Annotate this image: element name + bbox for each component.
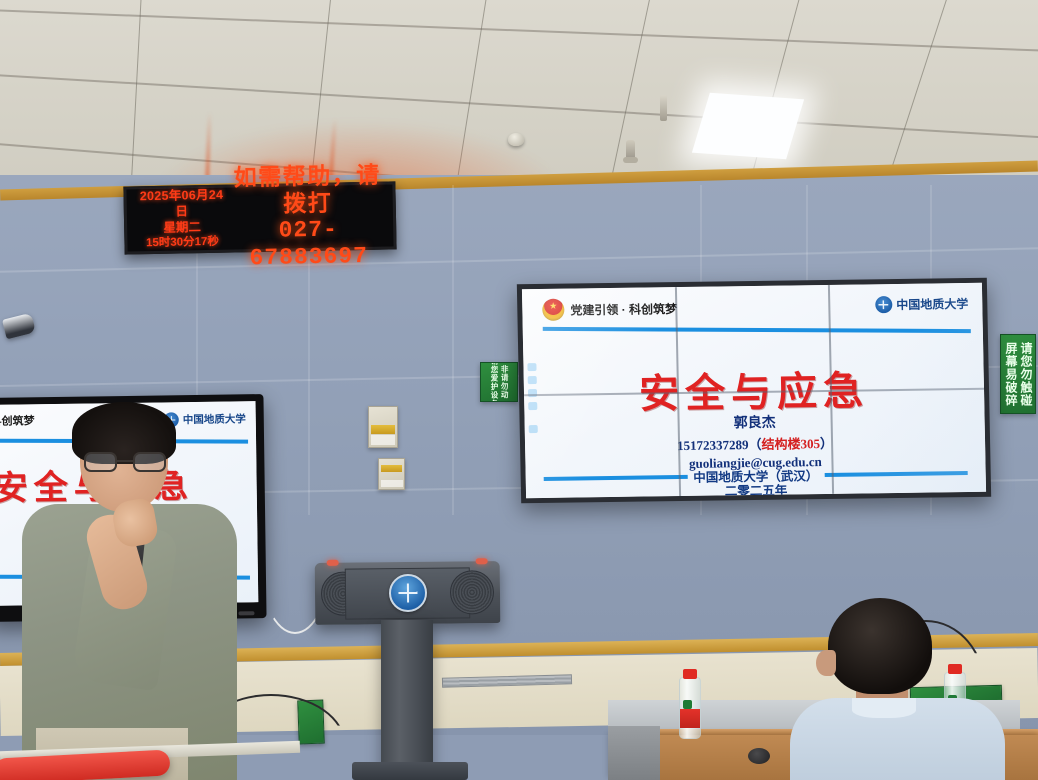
- slide-phone: 15172337289: [677, 437, 749, 453]
- led-help-message: 如需帮助，请拨打: [229, 161, 386, 218]
- desk-small-object: [748, 748, 770, 764]
- party-emblem-icon: .party-emblem:before{font-size:9px;}: [542, 299, 564, 321]
- sign-do-not-touch-screen: 请您勿触碰 屏幕易破碎: [1000, 334, 1036, 414]
- desk-side-panel: [608, 726, 660, 780]
- cug-mark-icon: [875, 296, 892, 313]
- glasses-lens-left: [84, 452, 117, 472]
- led-time: 15时30分17秒: [134, 235, 230, 251]
- slide-top-rule: [543, 327, 971, 333]
- led-weekday: 星期二: [134, 219, 230, 236]
- sign-right-line2: 屏幕易破碎: [1004, 342, 1017, 407]
- slide-room: 结构楼305: [761, 436, 820, 452]
- led-datetime-block: 2025年06月24日 星期二 15时30分17秒: [133, 188, 230, 251]
- podium-led-left: [327, 560, 339, 566]
- led-message-block: 如需帮助，请拨打 027-67883697: [229, 161, 387, 272]
- university-name: 中国地质大学: [896, 295, 968, 313]
- audience-head: [828, 598, 932, 694]
- led-date: 2025年06月24日: [133, 188, 230, 221]
- sign-left-line1: 非请勿动: [500, 362, 508, 402]
- sign-equipment-care: 非请勿动 请您爱护设备: [480, 362, 518, 402]
- paren-open: （: [748, 437, 761, 452]
- led-help-phone: 027-67883697: [230, 216, 387, 273]
- podium-head: [315, 561, 501, 625]
- ceiling-light: [692, 93, 804, 160]
- led-information-board: 2025年06月24日 星期二 15时30分17秒 如需帮助，请拨打 027-6…: [123, 181, 396, 254]
- glasses-lens-right: [133, 452, 166, 472]
- presenter-glasses-icon: [84, 452, 166, 472]
- ceiling-hook: [660, 95, 667, 121]
- podium-column: [381, 620, 433, 772]
- presenter: [22, 408, 237, 780]
- podium-university-seal-icon: [388, 574, 426, 612]
- glasses-bridge: [117, 460, 133, 462]
- water-bottle-left: [679, 677, 701, 739]
- tv-indicator: [238, 611, 254, 615]
- slide-header: .party-emblem:before{font-size:9px;} 党建引…: [542, 297, 677, 321]
- sign-right-line1: 请您勿触碰: [1019, 342, 1032, 407]
- wall-control-panel-upper: [368, 406, 398, 448]
- sign-left-line2: 请您爱护设备: [490, 362, 498, 402]
- podium-led-right: [476, 558, 488, 564]
- bottle-label-left: [680, 709, 700, 728]
- audience-member: [800, 598, 990, 780]
- led-video-wall[interactable]: .party-emblem:before{font-size:9px;} 党建引…: [517, 278, 991, 504]
- sprinkler: [626, 140, 635, 160]
- wall-control-panel-lower: [378, 458, 405, 490]
- audience-ear: [816, 650, 836, 676]
- audience-collar: [852, 698, 916, 718]
- slide-header-banner: 党建引领 · 科创筑梦: [570, 300, 677, 318]
- podium-speaker-right: [450, 570, 494, 614]
- podium-base: [352, 762, 468, 780]
- lecture-hall-photo: 2025年06月24日 星期二 15时30分17秒 如需帮助，请拨打 027-6…: [0, 0, 1038, 780]
- university-logo: 中国地质大学: [875, 295, 968, 313]
- bottle-cap-left: [683, 669, 697, 679]
